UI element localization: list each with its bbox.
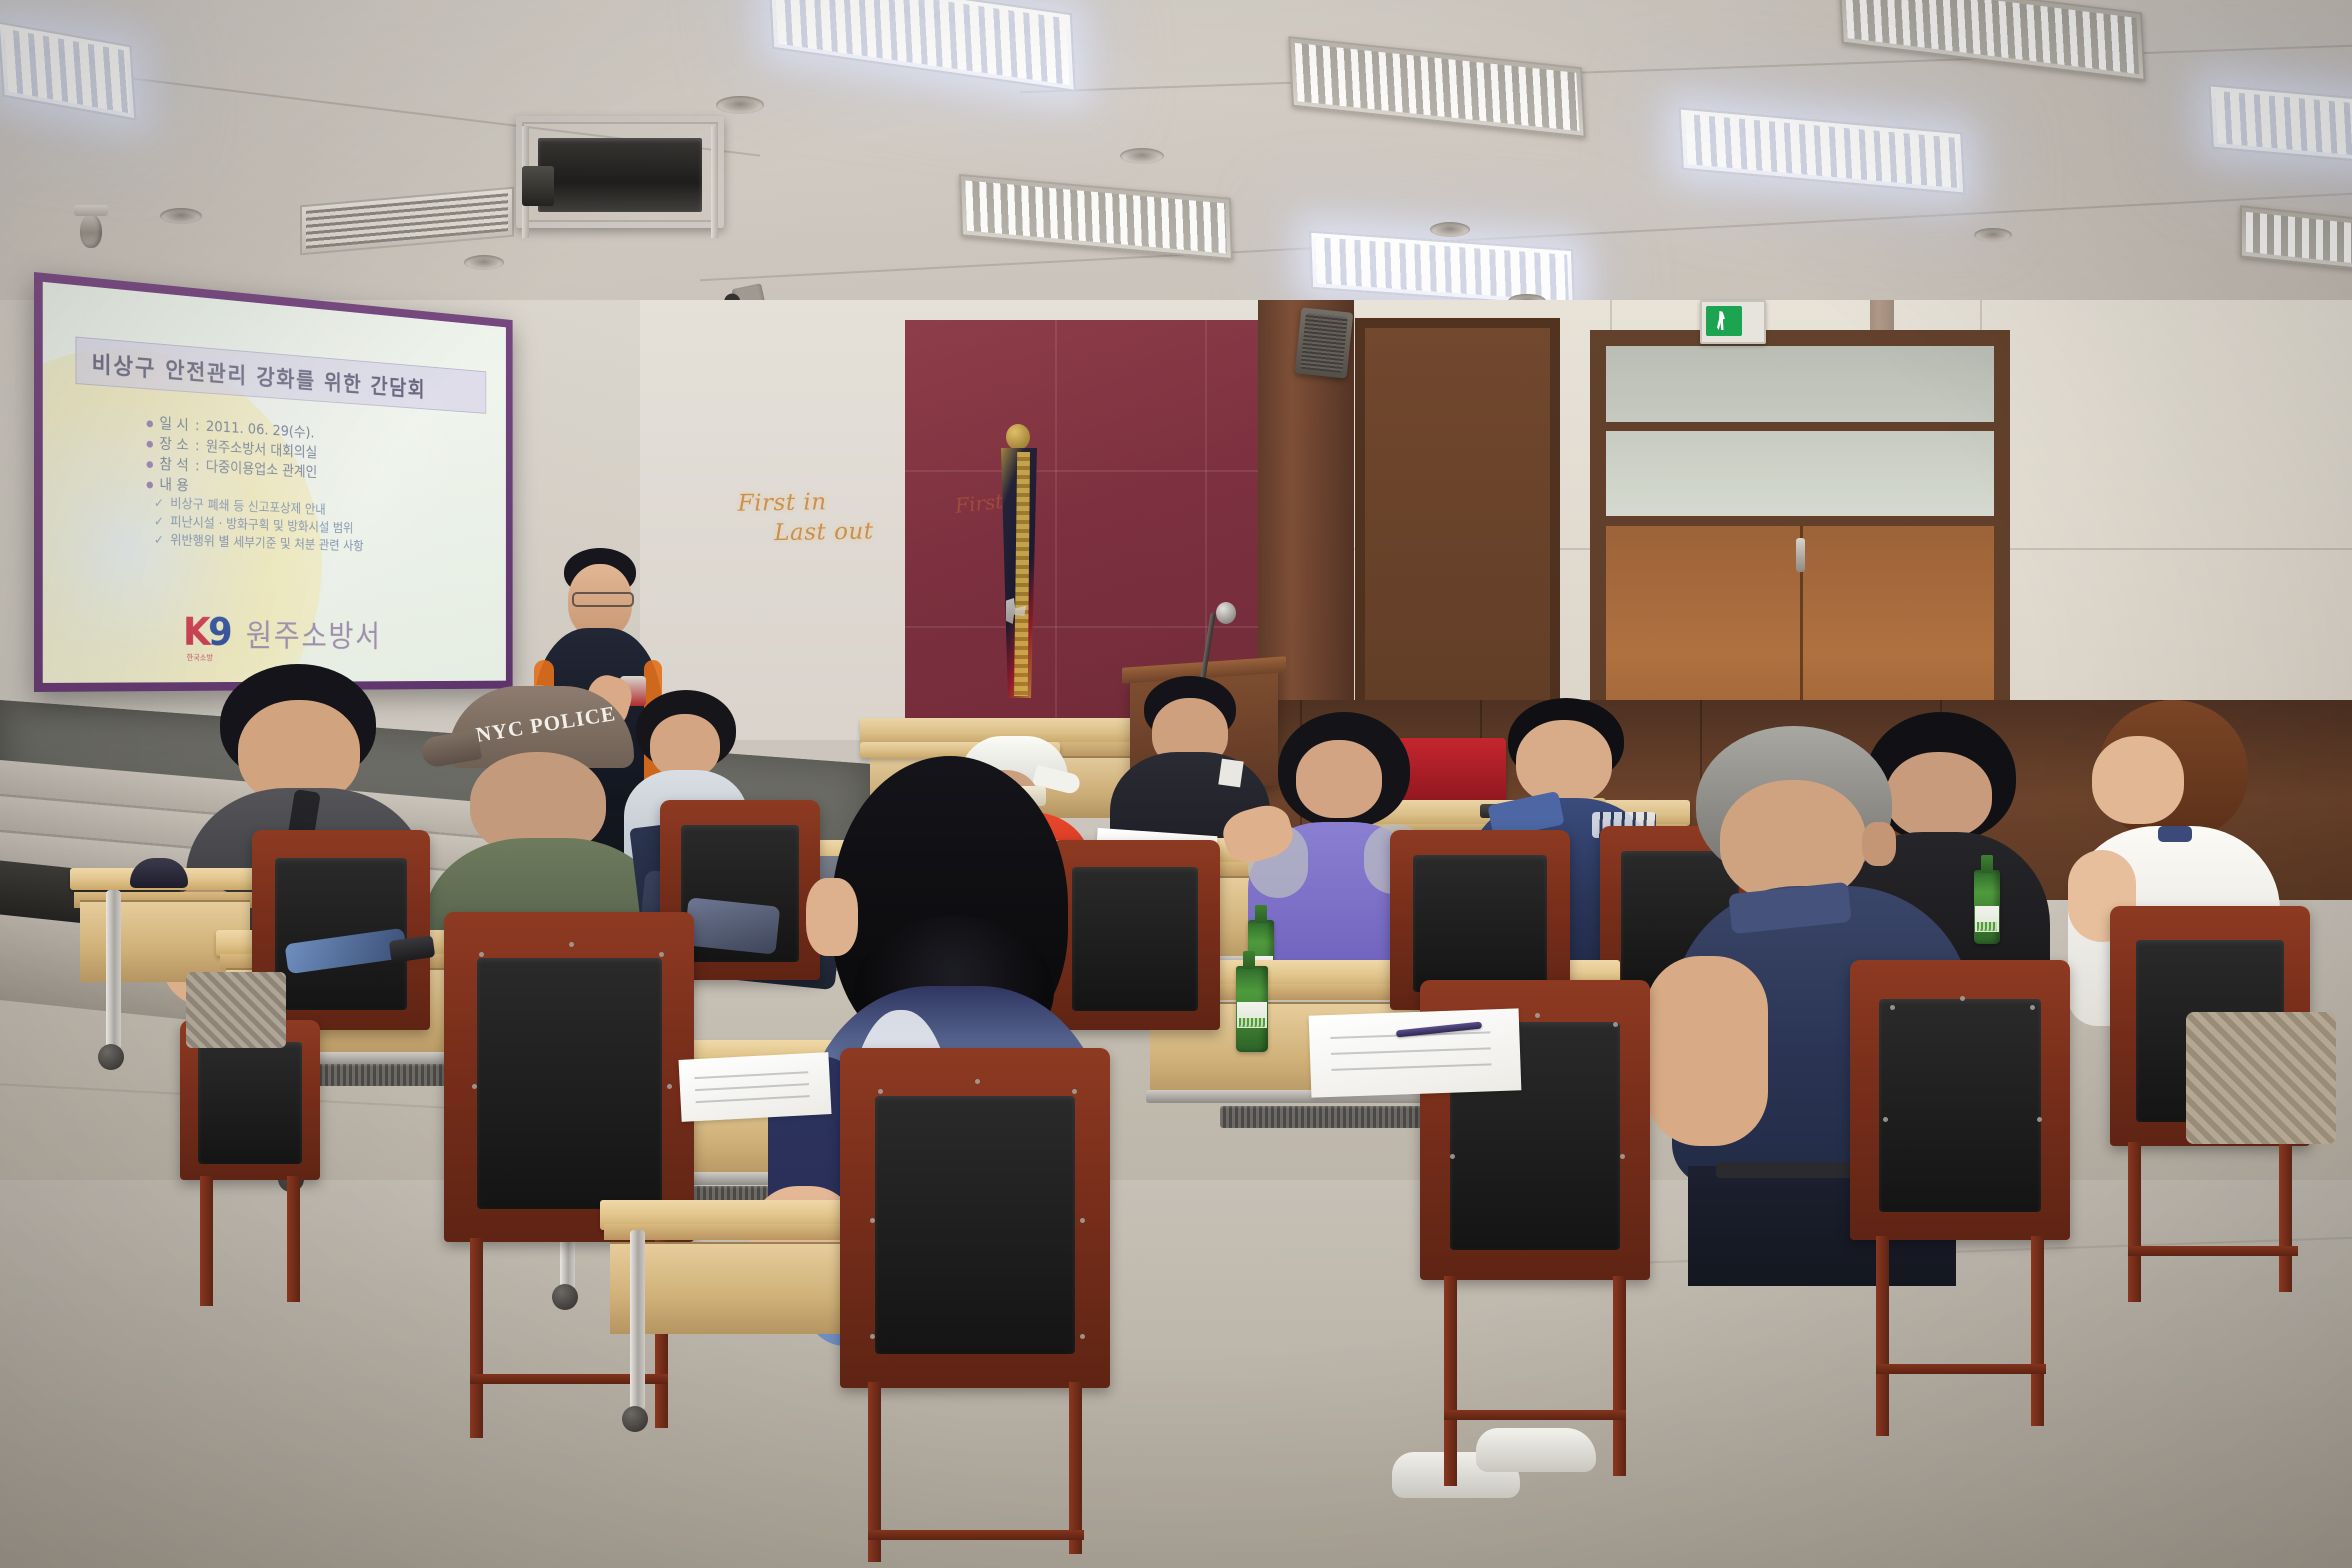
bullet-dot-icon: [147, 481, 153, 488]
ceiling-projector: [516, 116, 724, 228]
beverage-bottle: [1974, 870, 2000, 944]
slide-body: 일 시 : 2011. 06. 29(수). 장 소 : 원주소방서 대회의실 …: [147, 412, 493, 559]
bullet-label: 참 석: [159, 454, 188, 476]
door-handle[interactable]: [1796, 538, 1805, 572]
ear-neck: [806, 878, 858, 956]
handout-paper: [678, 1052, 831, 1122]
beverage-bottle: [1236, 966, 1268, 1052]
logo-mark-9: 9: [208, 610, 230, 654]
ceiling-downlight: [1430, 222, 1470, 237]
check-icon: ✓: [154, 531, 164, 550]
handout-paper: [1309, 1008, 1522, 1097]
cap-text: NYC POLICE: [471, 701, 621, 750]
patterned-handbag: [2186, 1012, 2336, 1144]
chair[interactable]: [1850, 960, 2070, 1240]
exit-running-man-icon: [1706, 306, 1742, 336]
bullet-label: 일 시: [159, 413, 188, 435]
ceiling-downlight: [1120, 148, 1164, 164]
strap: [2158, 826, 2192, 842]
k9-logo-icon: K9 한국소방: [183, 613, 230, 652]
bullet-dot-icon: [147, 461, 153, 468]
check-icon: ✓: [154, 513, 164, 532]
photo-scene: First in Last out First in 비상구 안전관리 강화를 …: [0, 0, 2352, 1568]
logo-mark-k: K: [183, 610, 208, 654]
bullet-label: 장 소: [159, 434, 188, 456]
presentation-slide: 비상구 안전관리 강화를 위한 간담회 일 시 : 2011. 06. 29(수…: [43, 282, 506, 683]
head: [1516, 720, 1612, 804]
chair[interactable]: [444, 912, 694, 1242]
motto-line-1: First in: [738, 489, 827, 517]
slide-logo: K9 한국소방 원주소방서: [183, 609, 382, 656]
ceiling-downlight: [160, 208, 202, 224]
backpack-pocket: [684, 897, 781, 954]
chair[interactable]: [840, 1048, 1110, 1388]
motto-line-2: Last out: [738, 515, 938, 548]
sprinkler-head-icon: [80, 214, 102, 248]
bullet-sep: :: [195, 416, 200, 436]
bullet-sep: :: [195, 436, 200, 456]
patterned-handbag: [186, 972, 286, 1048]
ceiling-downlight: [464, 255, 504, 270]
bullet-dot-icon: [147, 420, 153, 427]
ceiling-downlight: [1974, 228, 2012, 242]
head: [2092, 736, 2184, 824]
arm: [1646, 956, 1768, 1146]
wall-speaker: [1295, 307, 1354, 378]
bullet-dot-icon: [147, 441, 153, 448]
ceiling-downlight: [716, 96, 764, 114]
head: [1296, 740, 1382, 818]
bullet-sep: :: [195, 456, 200, 476]
projection-screen: 비상구 안전관리 강화를 위한 간담회 일 시 : 2011. 06. 29(수…: [34, 272, 513, 692]
bullet-label: 내 용: [159, 474, 188, 496]
shirt-collar: [1218, 759, 1243, 788]
ceremonial-flag: [986, 440, 1052, 700]
ear: [1862, 822, 1896, 866]
flag-finial: [1006, 424, 1030, 450]
check-icon: ✓: [154, 494, 164, 513]
organization-name: 원주소방서: [246, 610, 382, 656]
microphone-head-icon: [1216, 602, 1236, 624]
logo-mark-sub: 한국소방: [187, 654, 213, 662]
wall-motto-text: First in Last out: [737, 485, 938, 548]
glasses-icon: [572, 592, 634, 607]
shoe: [1476, 1428, 1596, 1472]
emergency-exit-sign: [1700, 300, 1766, 344]
door-transom-window: [1606, 346, 1994, 526]
